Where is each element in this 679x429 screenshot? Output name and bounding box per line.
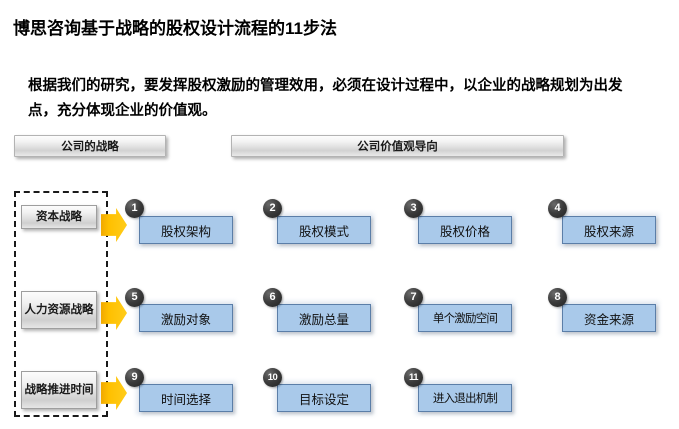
step-badge-10: 10 [263, 368, 282, 387]
page-title: 博思咨询基于战略的股权设计流程的11步法 [13, 14, 337, 39]
step-badge-1: 1 [125, 199, 144, 218]
step-box-5[interactable]: 激励对象 [139, 304, 233, 332]
step-badge-9: 9 [125, 368, 144, 387]
step-badge-4: 4 [548, 199, 567, 218]
step-label: 股权架构 [161, 221, 211, 240]
step-label: 股权模式 [299, 221, 349, 240]
band-label: 公司的战略 [61, 138, 119, 154]
step-badge-7: 7 [404, 288, 423, 307]
step-box-11[interactable]: 进入退出机制 [418, 384, 512, 412]
step-box-9[interactable]: 时间选择 [139, 384, 233, 412]
band-company-values: 公司价值观导向 [231, 135, 564, 157]
band-company-strategy: 公司的战略 [14, 135, 166, 157]
step-label: 资金来源 [584, 309, 634, 328]
step-badge-2: 2 [263, 199, 282, 218]
step-label: 股权来源 [584, 221, 634, 240]
step-label: 激励总量 [299, 309, 349, 328]
step-label: 目标设定 [299, 389, 349, 408]
step-box-2[interactable]: 股权模式 [277, 216, 371, 244]
step-badge-3: 3 [404, 199, 423, 218]
category-label-capital-strategy: 资本战略 [21, 205, 97, 229]
step-label: 股权价格 [440, 221, 490, 240]
step-box-3[interactable]: 股权价格 [418, 216, 512, 244]
category-label-timeline-strategy: 战略推进时间 [21, 371, 97, 409]
category-label-hr-strategy: 人力资源战略 [21, 291, 97, 329]
step-box-10[interactable]: 目标设定 [277, 384, 371, 412]
step-badge-5: 5 [125, 288, 144, 307]
step-label: 时间选择 [161, 389, 211, 408]
band-label: 公司价值观导向 [357, 138, 438, 154]
step-badge-8: 8 [548, 288, 567, 307]
step-box-7[interactable]: 单个激励空间 [418, 304, 512, 332]
step-box-8[interactable]: 资金来源 [562, 304, 656, 332]
step-label: 激励对象 [161, 309, 211, 328]
step-label: 进入退出机制 [433, 390, 497, 406]
step-box-6[interactable]: 激励总量 [277, 304, 371, 332]
step-box-1[interactable]: 股权架构 [139, 216, 233, 244]
step-badge-11: 11 [404, 368, 423, 387]
step-label: 单个激励空间 [433, 310, 497, 326]
step-badge-6: 6 [263, 288, 282, 307]
step-box-4[interactable]: 股权来源 [562, 216, 656, 244]
subtitle-paragraph: 根据我们的研究，要发挥股权激励的管理效用，必须在设计过程中，以企业的战略规划为出… [28, 74, 648, 124]
